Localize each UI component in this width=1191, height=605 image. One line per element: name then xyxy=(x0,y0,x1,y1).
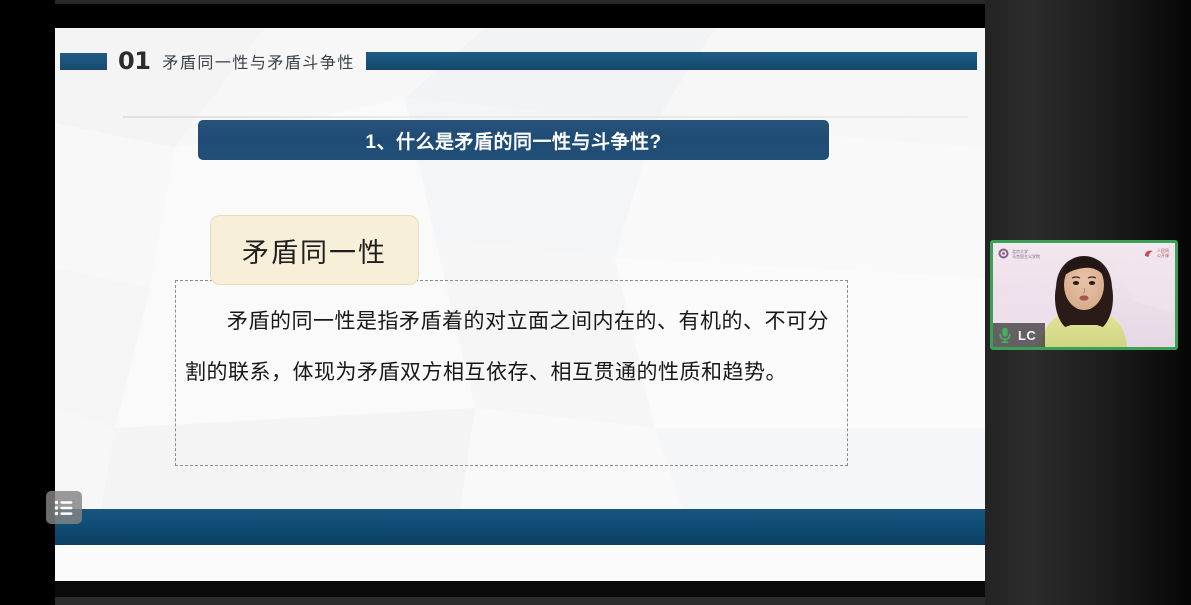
participant-video-tile[interactable]: 北京大学 马克思主义学院 人民网 公开课 LC xyxy=(990,240,1178,350)
slide-list-button[interactable] xyxy=(46,491,82,524)
video-overlay-logo-right-line2: 公开课 xyxy=(1157,253,1169,258)
letterbox-bottom-strip xyxy=(55,597,985,605)
participant-initials: LC xyxy=(1018,328,1036,343)
definition-text: 矛盾的同一性是指矛盾着的对立面之间内在的、有机的、不可分割的联系，体现为矛盾双方… xyxy=(185,296,835,398)
section-title: 矛盾同一性与矛盾斗争性 xyxy=(162,49,355,73)
slide-title-banner: 1、什么是矛盾的同一性与斗争性? xyxy=(198,120,829,160)
screen: 01 矛盾同一性与矛盾斗争性 1、什么是矛盾的同一性与斗争性? 矛盾同一性 矛盾… xyxy=(0,0,1191,605)
slide-section-header: 01 矛盾同一性与矛盾斗争性 xyxy=(55,46,985,76)
header-divider-rule xyxy=(123,116,968,118)
slide-content: 01 矛盾同一性与矛盾斗争性 1、什么是矛盾的同一性与斗争性? 矛盾同一性 矛盾… xyxy=(55,28,985,545)
video-overlay-logo-left: 北京大学 马克思主义学院 xyxy=(998,248,1040,259)
letterbox-top-strip xyxy=(55,0,985,4)
slide-title-text: 1、什么是矛盾的同一性与斗争性? xyxy=(365,127,661,154)
keyword-chip: 矛盾同一性 xyxy=(210,215,419,285)
letterbox-top xyxy=(55,0,985,28)
list-icon xyxy=(54,500,74,516)
slide-footer-bar xyxy=(55,509,985,545)
header-accent-bar-left xyxy=(60,53,107,70)
keyword-chip-label: 矛盾同一性 xyxy=(242,231,387,270)
video-overlay-logo-left-line2: 马克思主义学院 xyxy=(1012,254,1040,259)
microphone-icon xyxy=(997,326,1013,344)
broadcast-mark-icon xyxy=(1144,249,1154,258)
header-accent-bar-right xyxy=(366,52,977,70)
university-seal-icon xyxy=(998,248,1009,259)
slide: 01 矛盾同一性与矛盾斗争性 1、什么是矛盾的同一性与斗争性? 矛盾同一性 矛盾… xyxy=(55,28,985,581)
section-number: 01 xyxy=(118,49,150,73)
participant-name-badge: LC xyxy=(993,323,1045,347)
video-overlay-logo-right: 人民网 公开课 xyxy=(1144,248,1169,258)
